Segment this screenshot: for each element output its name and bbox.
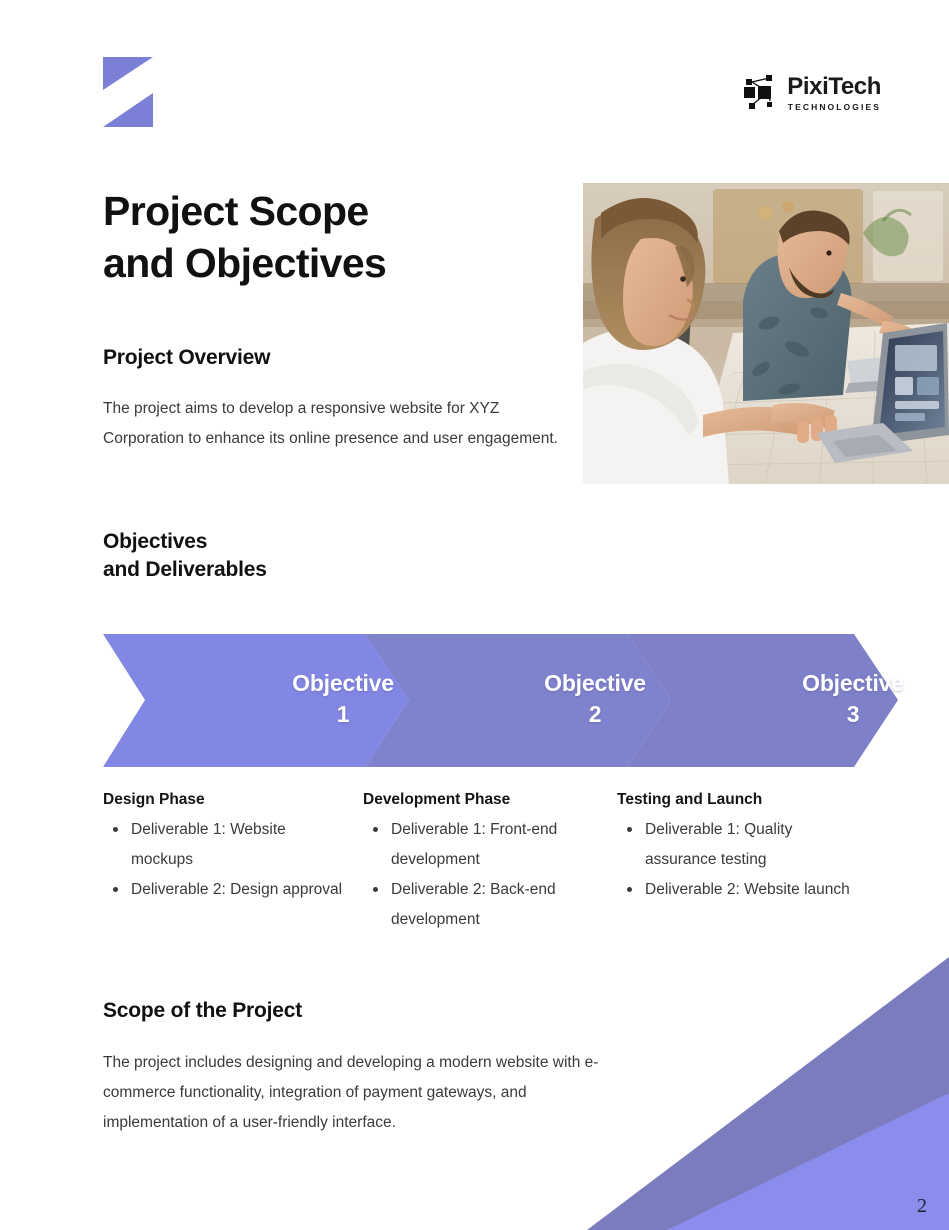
network-nodes-icon <box>742 74 778 112</box>
page-number: 2 <box>917 1195 927 1218</box>
list-item: Deliverable 2: Back-end development <box>363 875 613 935</box>
brand-mark-logo <box>103 57 153 129</box>
deliverable-list: Deliverable 1: Website mockups Deliverab… <box>103 815 348 905</box>
list-item-text: Deliverable 1: Quality assurance testing <box>645 821 792 868</box>
list-item: Deliverable 1: Front-end development <box>363 815 613 875</box>
list-item-text: Deliverable 2: Back-end development <box>391 881 556 928</box>
list-item: Deliverable 2: Design approval <box>103 875 348 905</box>
corporate-logo: PixiTech TECHNOLOGIES <box>742 74 881 112</box>
deliverable-list: Deliverable 1: Quality assurance testing… <box>617 815 862 905</box>
project-overview-heading: Project Overview <box>103 344 270 372</box>
bullet-icon <box>627 887 632 892</box>
list-item-text: Deliverable 1: Front-end development <box>391 821 557 868</box>
hero-photo <box>583 183 949 484</box>
list-item-text: Deliverable 2: Design approval <box>131 881 342 898</box>
decor-band-dark <box>587 957 949 1230</box>
list-item: Deliverable 1: Quality assurance testing <box>617 815 862 875</box>
deliverable-column-title: Development Phase <box>363 790 613 811</box>
corner-decoration <box>559 945 949 1230</box>
scope-heading: Scope of the Project <box>103 997 302 1025</box>
page-title: Project Scopeand Objectives <box>103 185 573 290</box>
deliverable-column-title: Design Phase <box>103 790 348 811</box>
list-item-text: Deliverable 2: Website launch <box>645 881 850 898</box>
corporate-logo-subtitle: TECHNOLOGIES <box>787 103 881 112</box>
deliverable-list: Deliverable 1: Front-end development Del… <box>363 815 613 935</box>
deliverable-column-testing-and-launch: Testing and Launch Deliverable 1: Qualit… <box>617 790 862 905</box>
bullet-icon <box>113 827 118 832</box>
deliverable-column-title: Testing and Launch <box>617 790 862 811</box>
deliverable-column-development-phase: Development Phase Deliverable 1: Front-e… <box>363 790 613 935</box>
decor-band-light <box>667 1093 949 1230</box>
chevron-label-1: Objective1 <box>243 668 443 730</box>
scope-text: The project includes designing and devel… <box>103 1048 613 1138</box>
deliverable-column-design-phase: Design Phase Deliverable 1: Website mock… <box>103 790 348 905</box>
bullet-icon <box>373 887 378 892</box>
chevron-label-2: Objective2 <box>495 668 695 730</box>
project-overview-text: The project aims to develop a responsive… <box>103 394 573 454</box>
objectives-chevron-band: Objective1 Objective2 Objective3 <box>103 634 898 767</box>
corporate-logo-text: PixiTech TECHNOLOGIES <box>787 75 881 112</box>
list-item-text: Deliverable 1: Website mockups <box>131 821 286 868</box>
chevron-label-3: Objective3 <box>753 668 949 730</box>
bullet-icon <box>373 827 378 832</box>
objectives-deliverables-heading: Objectivesand Deliverables <box>103 528 433 584</box>
list-item: Deliverable 1: Website mockups <box>103 815 348 875</box>
corporate-logo-name: PixiTech <box>787 75 881 99</box>
bullet-icon <box>113 887 118 892</box>
list-item: Deliverable 2: Website launch <box>617 875 862 905</box>
bullet-icon <box>627 827 632 832</box>
